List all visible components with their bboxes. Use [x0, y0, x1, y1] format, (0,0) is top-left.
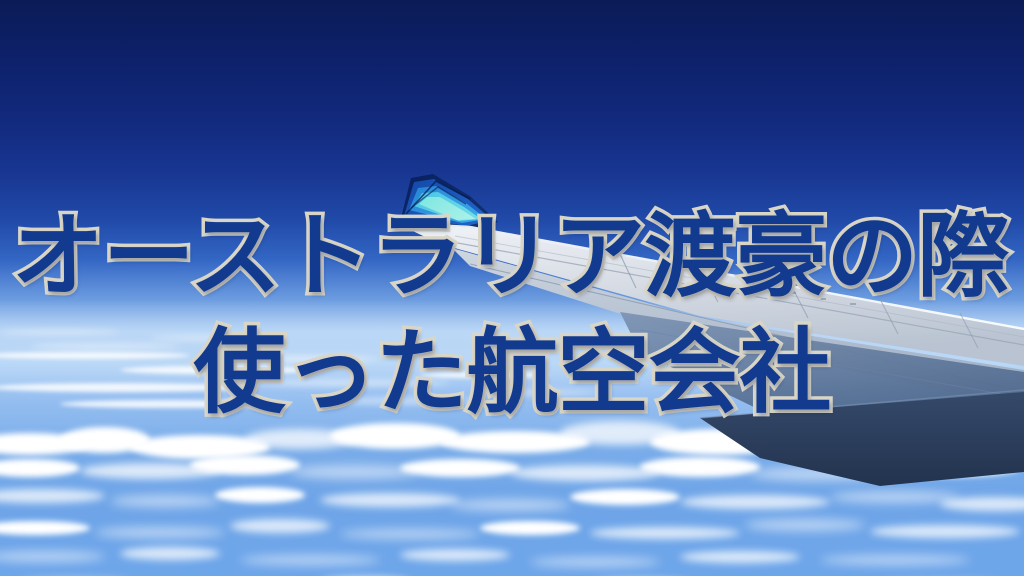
overlay-title-line-1: オーストラリア渡豪の際	[0, 196, 1022, 318]
overlay-title-line-2: 使った航空会社	[0, 312, 1024, 434]
image-canvas: オーストラリア渡豪の際 使った航空会社	[0, 0, 1024, 576]
cloud-field	[0, 415, 1024, 576]
overlay-title: オーストラリア渡豪の際 使った航空会社	[0, 196, 1024, 434]
